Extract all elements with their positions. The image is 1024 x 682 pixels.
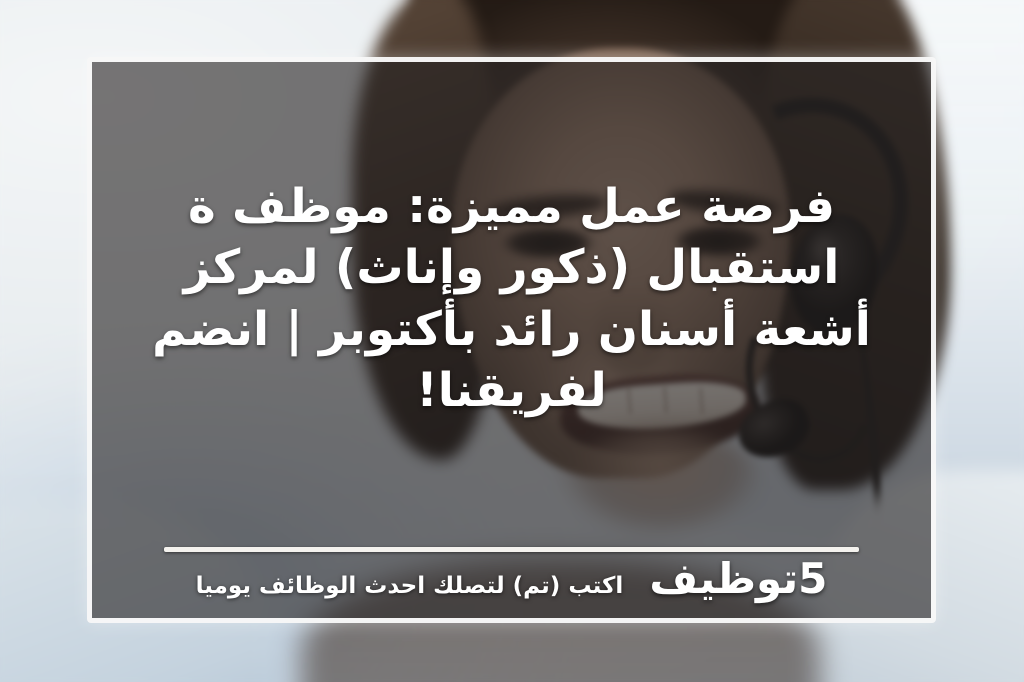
job-ad-card: فرصة عمل مميزة: موظف ة استقبال (ذكور وإن…: [0, 0, 1024, 682]
page-title: فرصة عمل مميزة: موظف ة استقبال (ذكور وإن…: [92, 62, 931, 547]
overlay-card: فرصة عمل مميزة: موظف ة استقبال (ذكور وإن…: [87, 57, 936, 623]
brand-row: 5توظيف اكتب (تم) لتصلك احدث الوظائف يومي…: [114, 558, 909, 600]
card-footer: 5توظيف اكتب (تم) لتصلك احدث الوظائف يومي…: [92, 547, 931, 618]
brand-name: 5توظيف: [649, 558, 827, 600]
divider: [164, 547, 859, 552]
brand-tagline: اكتب (تم) لتصلك احدث الوظائف يوميا: [196, 575, 624, 598]
